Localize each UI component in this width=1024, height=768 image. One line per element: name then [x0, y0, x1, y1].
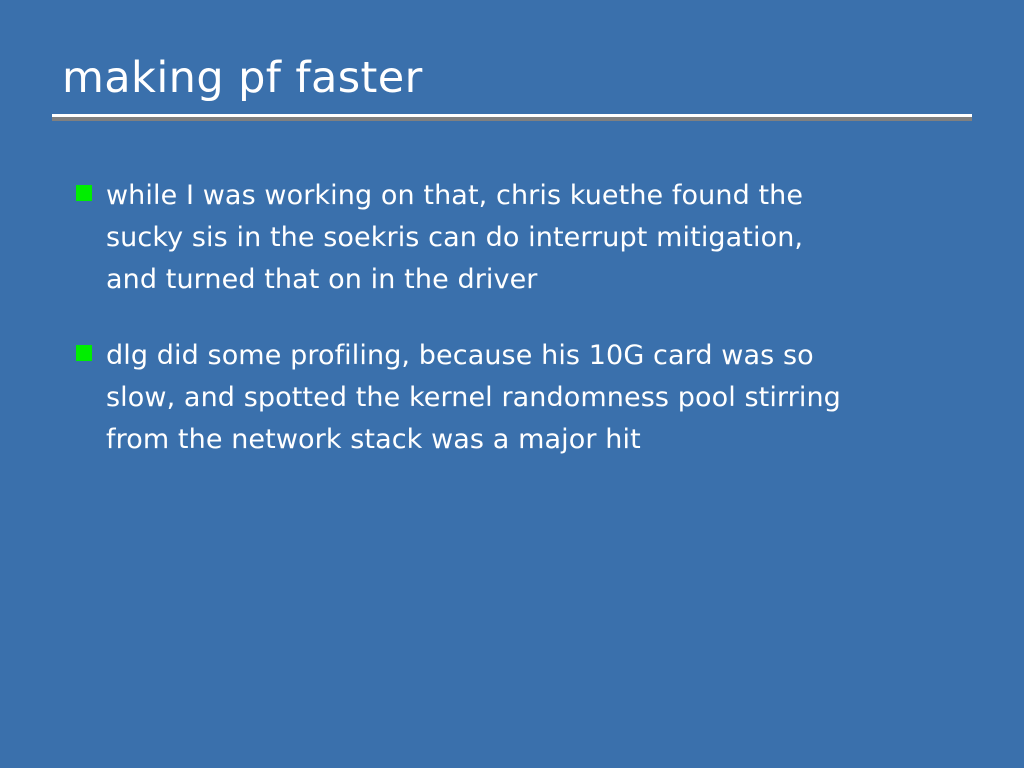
rule-shadow-line	[52, 117, 972, 121]
green-square-bullet-icon	[76, 185, 92, 201]
list-item: while I was working on that, chris kueth…	[76, 175, 966, 301]
slide-body-content: while I was working on that, chris kueth…	[76, 175, 966, 461]
list-item-text: dlg did some profiling, because his 10G …	[106, 335, 966, 461]
title-separator-rule	[52, 114, 972, 121]
list-item: dlg did some profiling, because his 10G …	[76, 335, 966, 461]
green-square-bullet-icon	[76, 345, 92, 361]
page-title: making pf faster	[52, 52, 972, 104]
slide-title-block: making pf faster	[52, 52, 972, 104]
list-item-text: while I was working on that, chris kueth…	[106, 175, 966, 301]
presentation-slide: making pf faster while I was working on …	[0, 0, 1024, 768]
